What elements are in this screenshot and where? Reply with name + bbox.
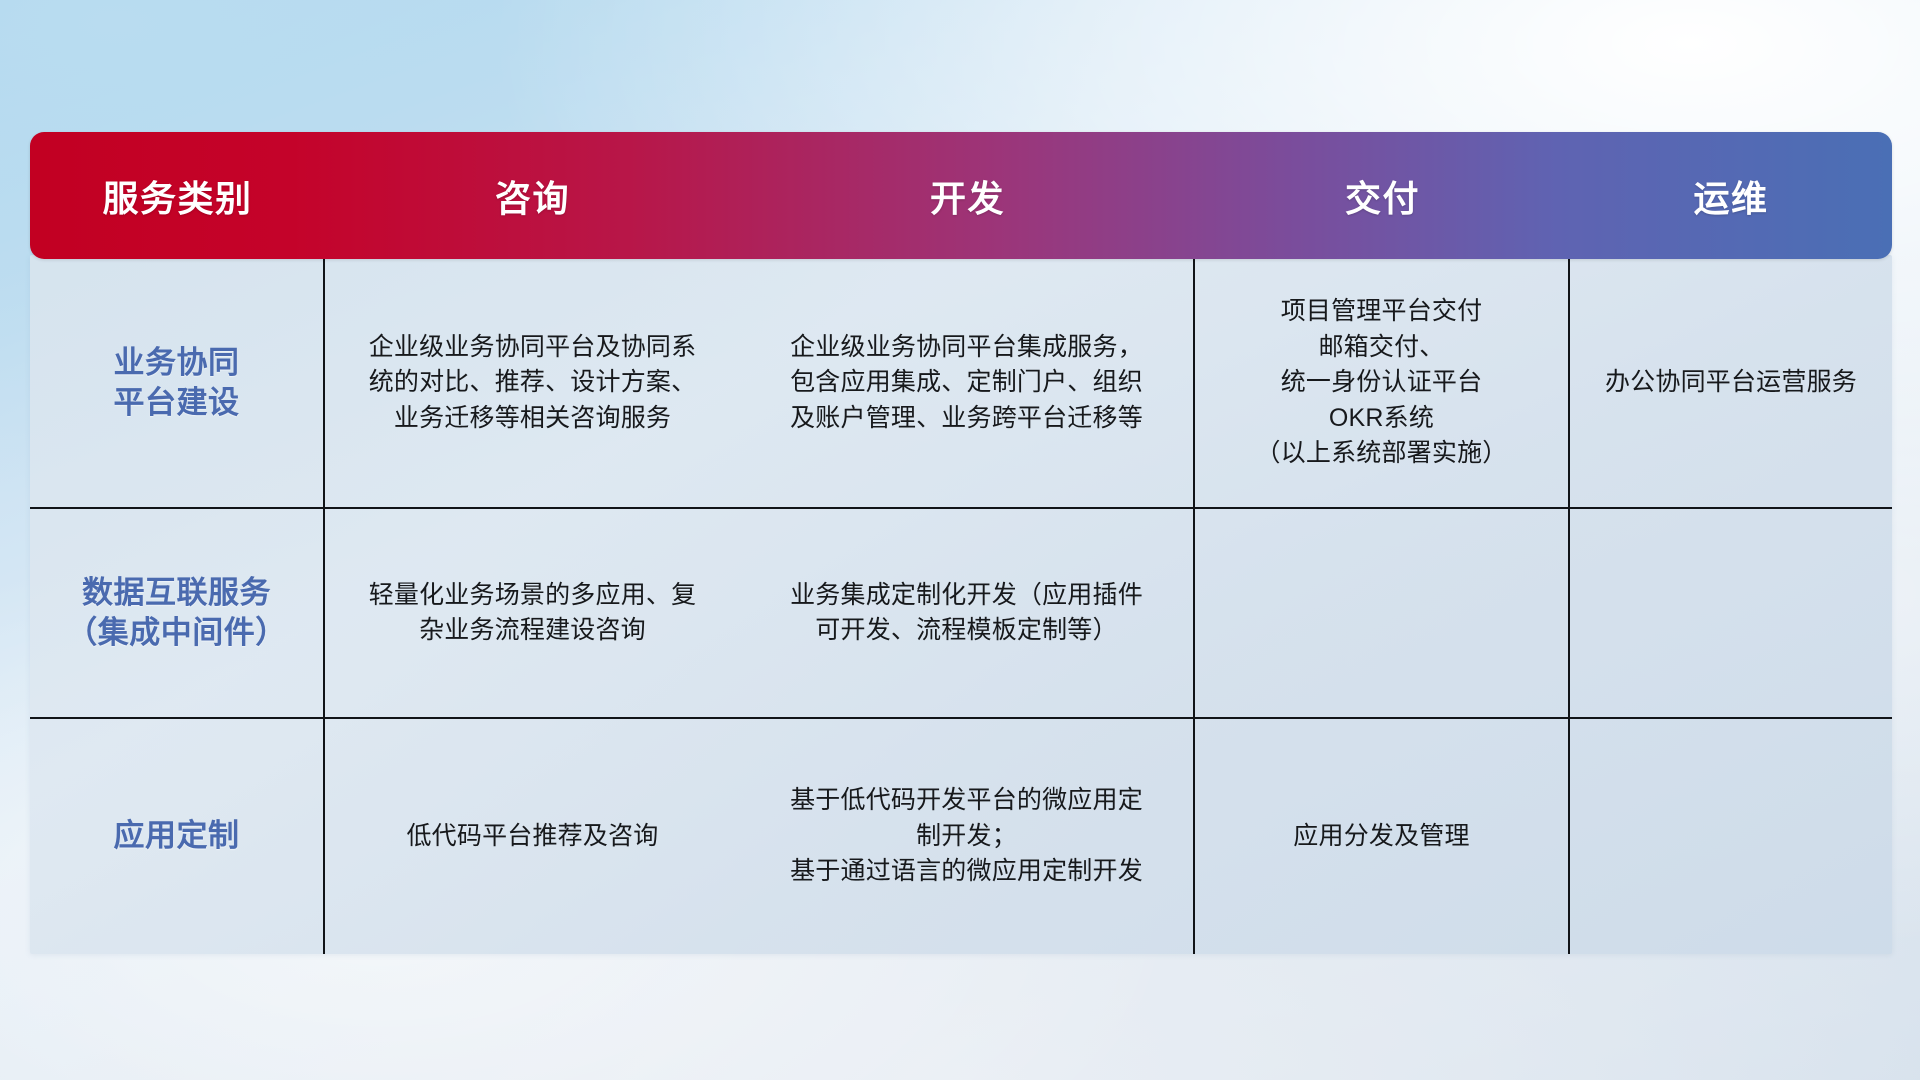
column-header-consulting: 咨询 [325, 170, 740, 222]
cell-delivery: 项目管理平台交付 邮箱交付、 统一身份认证平台 OKR系统 （以上系统部署实施） [1195, 259, 1570, 507]
row-label-cell: 业务协同 平台建设 [30, 259, 325, 507]
column-header-operations: 运维 [1570, 170, 1892, 222]
cell-development: 业务集成定制化开发（应用插件 可开发、流程模板定制等） [740, 509, 1195, 717]
cell-text: 企业级业务协同平台及协同系 统的对比、推荐、设计方案、 业务迁移等相关咨询服务 [369, 330, 697, 437]
column-header-category: 服务类别 [30, 170, 325, 222]
table-header-row: 服务类别 咨询 开发 交付 运维 [30, 132, 1892, 259]
cell-development: 基于低代码开发平台的微应用定 制开发； 基于通过语言的微应用定制开发 [740, 719, 1195, 954]
service-matrix-table: 服务类别 咨询 开发 交付 运维 业务协同 平台建设 企业级业务协同平台及协同系… [30, 132, 1892, 954]
cell-text: 低代码平台推荐及咨询 [406, 819, 658, 855]
cell-text: 应用分发及管理 [1293, 819, 1469, 855]
cell-text: 轻量化业务场景的多应用、复 杂业务流程建设咨询 [369, 578, 697, 649]
cell-operations: 办公协同平台运营服务 [1570, 259, 1892, 507]
slide-canvas: 服务类别 咨询 开发 交付 运维 业务协同 平台建设 企业级业务协同平台及协同系… [0, 0, 1920, 1080]
row-label-cell: 数据互联服务 （集成中间件） [30, 509, 325, 717]
cell-text: 业务集成定制化开发（应用插件 可开发、流程模板定制等） [790, 578, 1143, 649]
cell-delivery: 应用分发及管理 [1195, 719, 1570, 954]
cell-development: 企业级业务协同平台集成服务， 包含应用集成、定制门户、组织 及账户管理、业务跨平… [740, 259, 1195, 507]
cell-operations [1570, 509, 1892, 717]
table-row: 数据互联服务 （集成中间件） 轻量化业务场景的多应用、复 杂业务流程建设咨询 业… [30, 507, 1892, 717]
row-label-text: 业务协同 平台建设 [114, 343, 240, 424]
table-row: 业务协同 平台建设 企业级业务协同平台及协同系 统的对比、推荐、设计方案、 业务… [30, 259, 1892, 507]
row-label-text: 应用定制 [114, 816, 240, 856]
column-header-development: 开发 [740, 170, 1195, 222]
table-row: 应用定制 低代码平台推荐及咨询 基于低代码开发平台的微应用定 制开发； 基于通过… [30, 717, 1892, 954]
cell-text: 基于低代码开发平台的微应用定 制开发； 基于通过语言的微应用定制开发 [790, 783, 1143, 890]
cell-delivery [1195, 509, 1570, 717]
cell-consulting: 轻量化业务场景的多应用、复 杂业务流程建设咨询 [325, 509, 740, 717]
cell-operations [1570, 719, 1892, 954]
cell-consulting: 低代码平台推荐及咨询 [325, 719, 740, 954]
column-header-delivery: 交付 [1195, 170, 1570, 222]
cell-text: 企业级业务协同平台集成服务， 包含应用集成、定制门户、组织 及账户管理、业务跨平… [790, 330, 1143, 437]
row-label-text: 数据互联服务 （集成中间件） [66, 573, 287, 654]
cell-text: 办公协同平台运营服务 [1605, 365, 1857, 401]
table-body: 业务协同 平台建设 企业级业务协同平台及协同系 统的对比、推荐、设计方案、 业务… [30, 255, 1892, 954]
row-label-cell: 应用定制 [30, 719, 325, 954]
cell-text: 项目管理平台交付 邮箱交付、 统一身份认证平台 OKR系统 （以上系统部署实施） [1255, 294, 1507, 472]
cell-consulting: 企业级业务协同平台及协同系 统的对比、推荐、设计方案、 业务迁移等相关咨询服务 [325, 259, 740, 507]
